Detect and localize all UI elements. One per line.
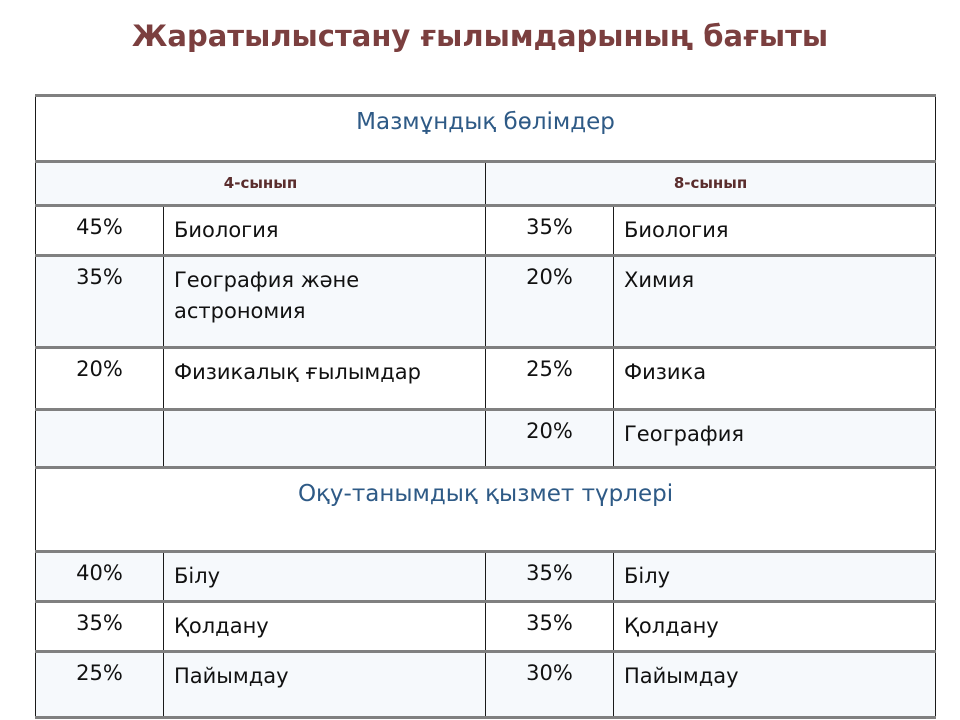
section-header-content: Оқу-танымдық қызмет түрлері (36, 468, 936, 552)
table-row: 25% Пайымдау 30% Пайымдау (36, 652, 936, 718)
slide-canvas: Жаратылыстану ғылымдарының бағыты Мазмұн… (0, 0, 960, 720)
table-row: 45% Биология 35% Биология (36, 206, 936, 256)
cell-subject-left: Биология (164, 206, 486, 256)
class-header-grade8: 8-сынып (486, 162, 936, 206)
table-row: 35% Қолдану 35% Қолдану (36, 602, 936, 652)
cell-percent-left: 40% (36, 552, 164, 602)
section-header-row: Мазмұндық бөлімдер (36, 96, 936, 162)
table-row: 20% Физикалық ғылымдар 25% Физика (36, 348, 936, 410)
section-header-content: Мазмұндық бөлімдер (36, 96, 936, 162)
cell-subject-right: География (614, 410, 936, 468)
cell-percent-left-empty (36, 410, 164, 468)
cell-subject-right: Химия (614, 256, 936, 348)
cell-subject-right: Физика (614, 348, 936, 410)
cell-percent-left: 20% (36, 348, 164, 410)
curriculum-table: Мазмұндық бөлімдер 4-сынып 8-сынып 45% Б… (35, 94, 936, 719)
cell-subject-left: Пайымдау (164, 652, 486, 718)
table-row: 40% Білу 35% Білу (36, 552, 936, 602)
cell-subject-left: Қолдану (164, 602, 486, 652)
cell-subject-right: Білу (614, 552, 936, 602)
cell-subject-right: Биология (614, 206, 936, 256)
table-row: 35% География және астрономия 20% Химия (36, 256, 936, 348)
cell-percent-left: 45% (36, 206, 164, 256)
class-header-grade4: 4-сынып (36, 162, 486, 206)
cell-subject-right: Қолдану (614, 602, 936, 652)
cell-percent-right: 35% (486, 602, 614, 652)
page-title: Жаратылыстану ғылымдарының бағыты (0, 18, 960, 54)
cell-subject-right: Пайымдау (614, 652, 936, 718)
cell-subject-left: Физикалық ғылымдар (164, 348, 486, 410)
cell-percent-right: 35% (486, 552, 614, 602)
cell-percent-right: 30% (486, 652, 614, 718)
table-row: 20% География (36, 410, 936, 468)
cell-percent-left: 35% (36, 602, 164, 652)
cell-percent-right: 35% (486, 206, 614, 256)
cell-subject-left: Білу (164, 552, 486, 602)
cell-percent-right: 20% (486, 410, 614, 468)
cell-percent-left: 35% (36, 256, 164, 348)
cell-subject-left-empty (164, 410, 486, 468)
cell-percent-right: 25% (486, 348, 614, 410)
cell-percent-right: 20% (486, 256, 614, 348)
cell-subject-left: География және астрономия (164, 256, 486, 348)
cell-percent-left: 25% (36, 652, 164, 718)
section-header-row: Оқу-танымдық қызмет түрлері (36, 468, 936, 552)
class-header-row: 4-сынып 8-сынып (36, 162, 936, 206)
